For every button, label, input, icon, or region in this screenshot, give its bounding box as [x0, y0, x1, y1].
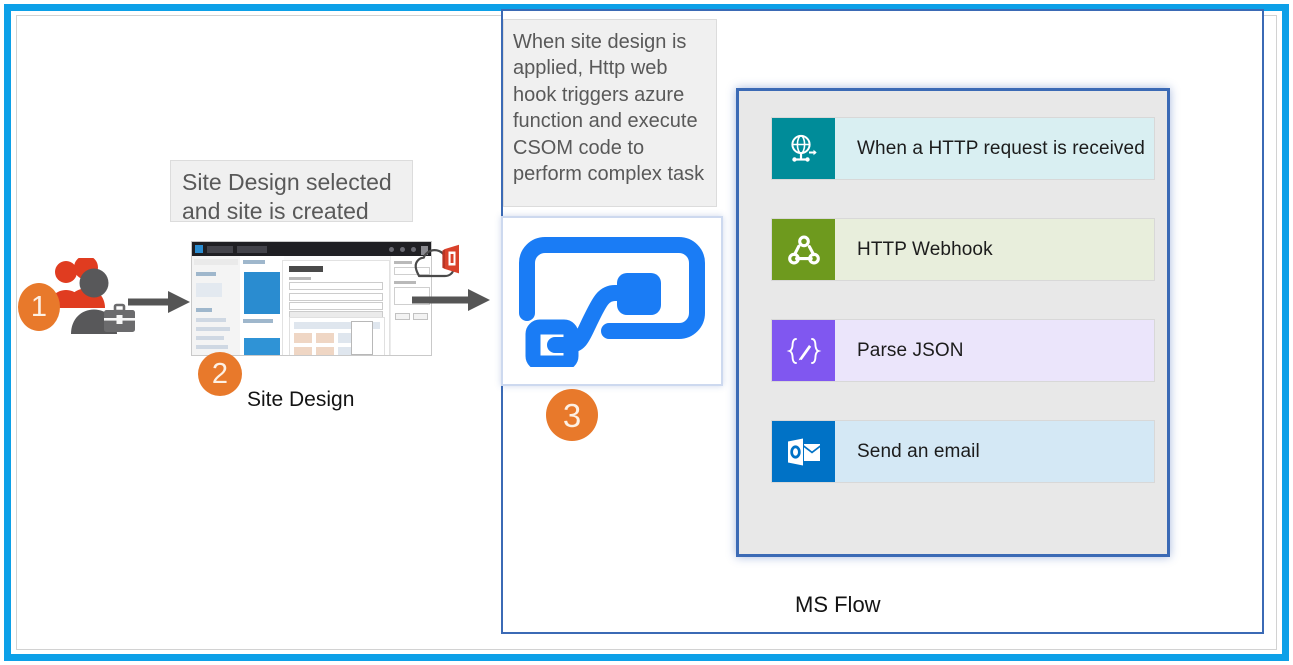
- thumb-news-card: [244, 272, 280, 314]
- globe-request-icon: [772, 118, 835, 179]
- thumb-label: [196, 272, 216, 276]
- step-badge-2: 2: [198, 352, 242, 396]
- flow-step-label: Parse JSON: [835, 320, 1154, 381]
- arrow-right-icon: [128, 289, 190, 320]
- flow-step-label: When a HTTP request is received: [835, 118, 1154, 179]
- caption-site-design: Site Design: [247, 388, 354, 412]
- callout-webhook-description: When site design is applied, Http web ho…: [503, 19, 717, 207]
- thumb-news-card: [244, 338, 280, 356]
- step-badge-1: 1: [18, 283, 60, 331]
- thumb-thumb: [196, 283, 222, 297]
- thumb-ok-button: [395, 313, 410, 320]
- thumb-field-label: [394, 281, 416, 284]
- thumb-body: [192, 256, 431, 356]
- thumb-label: [196, 327, 230, 331]
- thumb-phone-preview: [351, 321, 373, 355]
- thumb-search: [194, 259, 238, 265]
- thumb-dropdown: [289, 282, 383, 290]
- flow-step-row[interactable]: Send an email: [771, 420, 1155, 483]
- thumb-dot: [400, 247, 405, 252]
- flow-step-label: Send an email: [835, 421, 1154, 482]
- sharepoint-site-creation-screenshot: [191, 241, 432, 356]
- thumb-topbar: [192, 242, 431, 256]
- thumb-label: [196, 308, 212, 312]
- cloud-office365-icon: [407, 238, 465, 280]
- thumb-dot: [389, 247, 394, 252]
- thumb-option: [289, 302, 383, 310]
- ms-flow-logo-card: [501, 216, 723, 386]
- flow-step-row[interactable]: HTTP Webhook: [771, 218, 1155, 281]
- flow-step-row[interactable]: Parse JSON: [771, 319, 1155, 382]
- callout-site-design-selected: Site Design selected and site is created: [170, 160, 413, 222]
- thumb-label: [243, 319, 273, 323]
- step-badge-3: 3: [546, 389, 598, 441]
- thumb-create-site-dialog: [282, 260, 390, 356]
- webhook-icon: [772, 219, 835, 280]
- thumb-option: [289, 293, 383, 301]
- thumb-chip: [237, 246, 267, 253]
- thumb-dialog-title: [289, 266, 323, 272]
- diagram-canvas: 1 Site Design selected and site is creat…: [0, 0, 1293, 665]
- thumb-label: [196, 336, 224, 340]
- ms-flow-logo-icon: [517, 235, 707, 367]
- arrow-right-icon: [412, 287, 490, 318]
- thumb-label: [243, 260, 265, 264]
- thumb-chip: [207, 246, 233, 253]
- waffle-icon: [195, 245, 203, 253]
- outlook-icon: [772, 421, 835, 482]
- caption-ms-flow: MS Flow: [795, 592, 881, 618]
- flow-step-row[interactable]: When a HTTP request is received: [771, 117, 1155, 180]
- json-braces-icon: [772, 320, 835, 381]
- thumb-field-label: [289, 277, 311, 280]
- flow-step-label: HTTP Webhook: [835, 219, 1154, 280]
- thumb-label: [196, 318, 226, 322]
- ms-flow-steps-panel: When a HTTP request is received HTTP Web…: [736, 88, 1170, 557]
- thumb-label: [196, 345, 228, 349]
- thumb-left-nav: [192, 256, 241, 356]
